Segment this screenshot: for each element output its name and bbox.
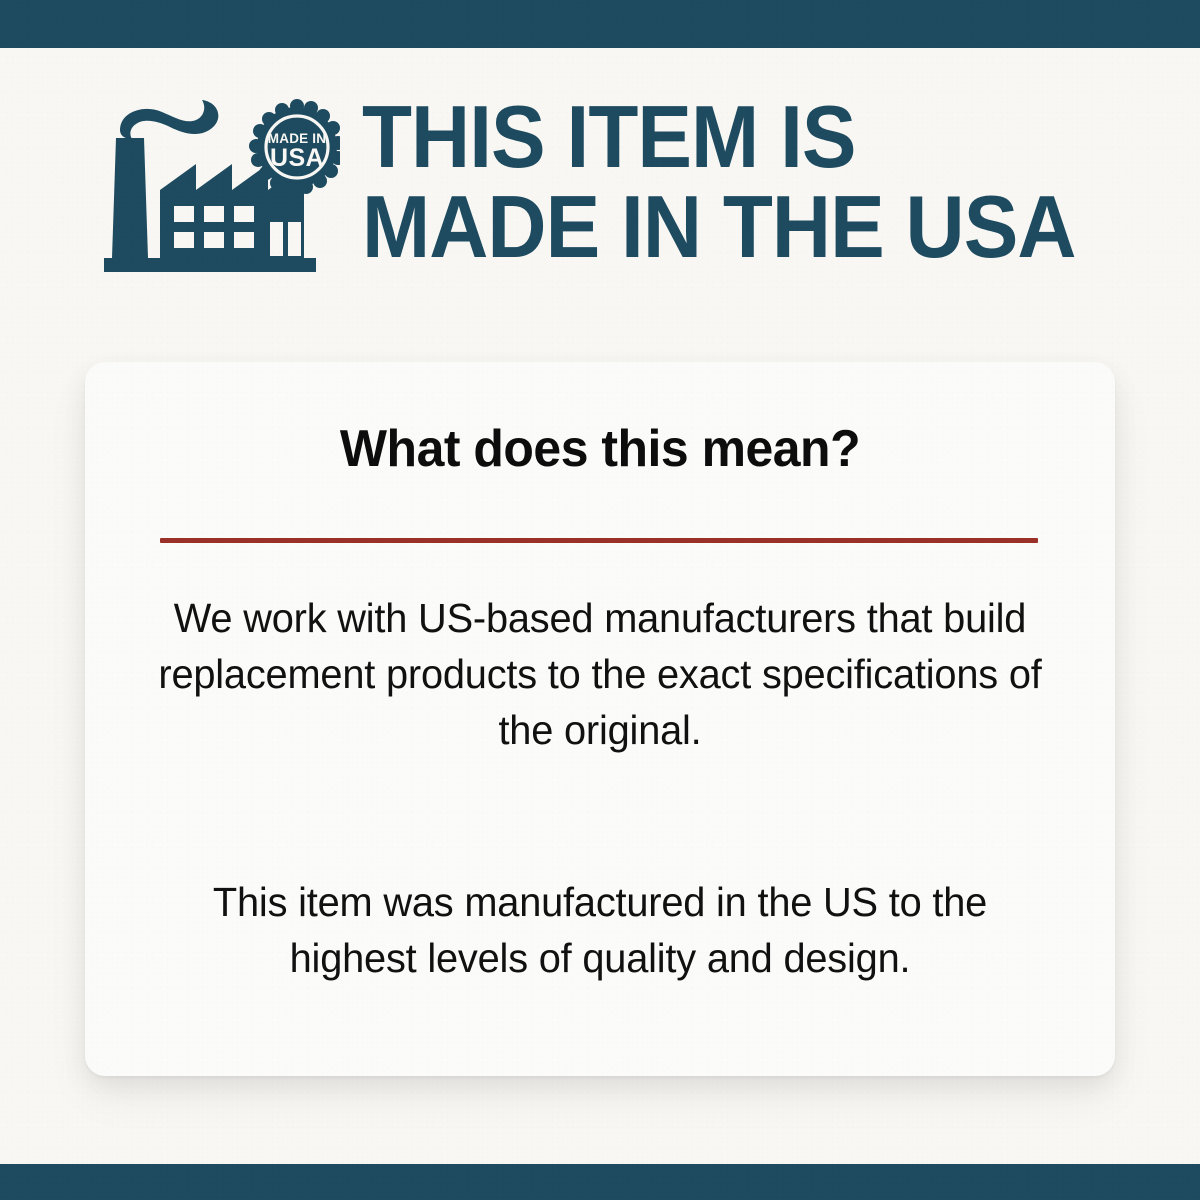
headline-line-2: MADE IN THE USA [362,182,1076,272]
smoke-plume-icon [120,100,218,139]
chimney-icon [112,138,148,258]
explanation-card: What does this mean? We work with US-bas… [85,362,1115,1076]
top-accent-bar [0,0,1200,48]
header: MADE IN USA THIS ITEM IS MADE IN THE USA [0,82,1200,292]
seal-usa-label: USA [270,144,324,172]
factory-logo: MADE IN USA [100,98,340,283]
bottom-accent-bar [0,1164,1200,1200]
red-divider [160,538,1038,543]
made-in-usa-panel: MADE IN USA THIS ITEM IS MADE IN THE USA… [0,0,1200,1200]
page-title: THIS ITEM IS MADE IN THE USA [362,92,1076,272]
body-paragraph-1: We work with US-based manufacturers that… [100,590,1099,758]
body-paragraph-2: This item was manufactured in the US to … [100,874,1099,986]
card-title: What does this mean? [106,420,1095,478]
factory-base-icon [104,258,316,272]
headline-line-1: THIS ITEM IS [362,92,1076,182]
